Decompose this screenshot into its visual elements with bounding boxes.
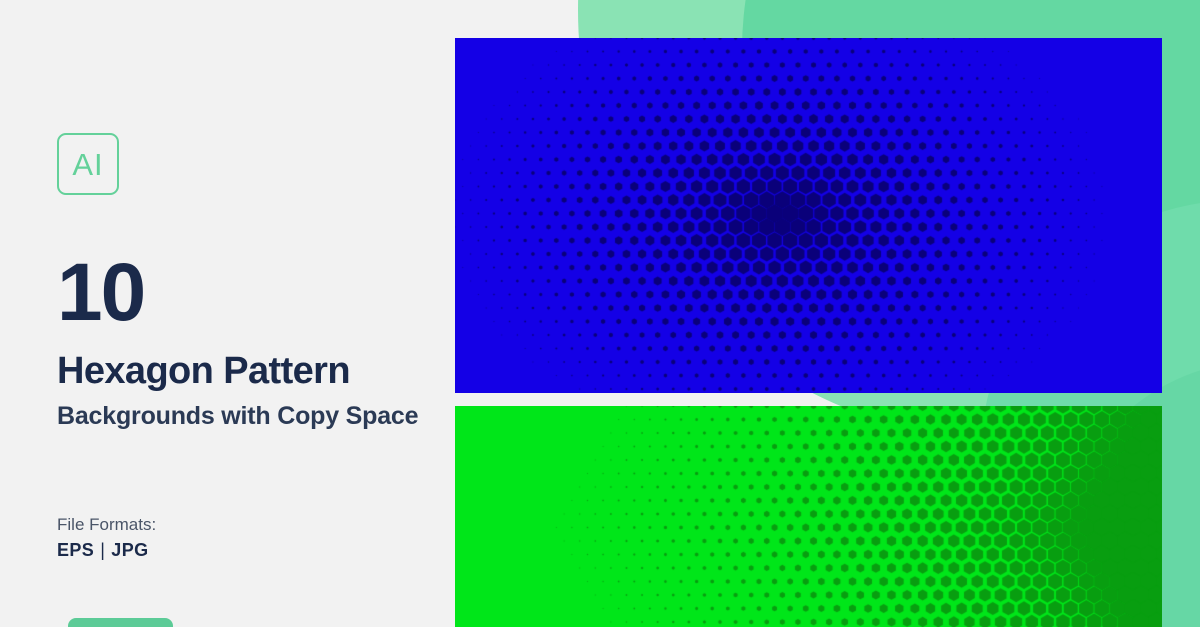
file-formats-label: File Formats: bbox=[57, 516, 156, 533]
format-separator: | bbox=[94, 540, 111, 560]
info-column: AI 10 Hexagon Pattern Backgrounds with C… bbox=[0, 0, 455, 627]
hexagon-pattern-preview-blue bbox=[455, 38, 1162, 393]
bottom-accent-pill bbox=[68, 618, 173, 627]
format-jpg: JPG bbox=[111, 540, 148, 560]
page-subtitle: Backgrounds with Copy Space bbox=[57, 400, 437, 433]
ai-format-badge: AI bbox=[57, 133, 119, 195]
hexagon-halftone-green-canvas bbox=[455, 406, 1162, 627]
page-title: Hexagon Pattern bbox=[57, 352, 350, 390]
hexagon-halftone-blue-canvas bbox=[455, 38, 1162, 393]
item-count: 10 bbox=[57, 252, 144, 334]
poster-canvas: AI 10 Hexagon Pattern Backgrounds with C… bbox=[0, 0, 1200, 627]
ai-badge-label: AI bbox=[72, 149, 103, 180]
format-eps: EPS bbox=[57, 540, 94, 560]
hexagon-pattern-preview-green bbox=[455, 406, 1162, 627]
file-formats-value: EPS|JPG bbox=[57, 541, 149, 559]
